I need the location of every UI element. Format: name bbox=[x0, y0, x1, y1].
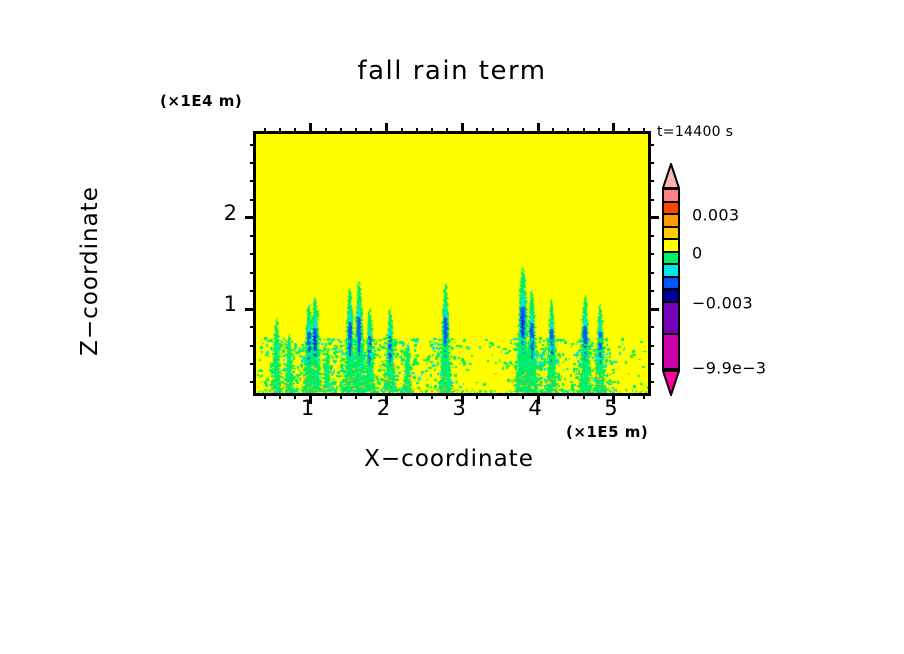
y-tick bbox=[648, 180, 654, 182]
y-tick bbox=[648, 162, 654, 164]
x-tick bbox=[492, 393, 494, 399]
x-tick bbox=[507, 128, 509, 134]
x-tick bbox=[537, 123, 540, 134]
y-tick bbox=[648, 199, 654, 201]
colorbar-bands bbox=[662, 188, 680, 370]
colorbar-bottom-arrow-outline bbox=[662, 370, 680, 396]
colorbar-band bbox=[664, 335, 678, 368]
y-tick bbox=[648, 216, 659, 219]
x-tick bbox=[522, 128, 524, 134]
y-tick bbox=[648, 290, 654, 292]
y-tick bbox=[250, 345, 256, 347]
x-tick bbox=[552, 128, 554, 134]
y-tick bbox=[250, 290, 256, 292]
colorbar-tick-label: −9.9e−3 bbox=[692, 359, 766, 378]
x-tick bbox=[628, 128, 630, 134]
y-tick bbox=[245, 216, 256, 219]
colorbar-band bbox=[664, 228, 678, 241]
x-tick bbox=[643, 393, 645, 399]
x-tick bbox=[355, 393, 357, 399]
x-tick bbox=[385, 123, 388, 134]
y-axis-unit-label: (×1E4 m) bbox=[160, 92, 242, 110]
x-tick bbox=[583, 128, 585, 134]
colorbar-band bbox=[664, 215, 678, 228]
colorbar-band bbox=[664, 303, 678, 336]
y-tick bbox=[250, 162, 256, 164]
colorbar-band bbox=[664, 203, 678, 216]
y-tick bbox=[250, 199, 256, 201]
x-tick-label: 4 bbox=[515, 396, 555, 420]
y-tick bbox=[245, 308, 256, 311]
y-tick bbox=[250, 272, 256, 274]
x-tick bbox=[309, 123, 312, 134]
x-tick bbox=[446, 128, 448, 134]
y-tick bbox=[250, 381, 256, 383]
x-tick bbox=[461, 123, 464, 134]
x-tick bbox=[431, 128, 433, 134]
colorbar-band bbox=[664, 290, 678, 303]
x-tick bbox=[370, 128, 372, 134]
y-tick bbox=[250, 253, 256, 255]
y-tick bbox=[250, 235, 256, 237]
y-tick bbox=[250, 180, 256, 182]
x-tick bbox=[340, 128, 342, 134]
colorbar-band bbox=[664, 253, 678, 266]
colorbar-tick-label: 0.003 bbox=[692, 206, 739, 225]
x-tick-label: 3 bbox=[439, 396, 479, 420]
plot-area bbox=[253, 131, 651, 396]
x-tick bbox=[507, 393, 509, 399]
y-tick bbox=[648, 144, 654, 146]
colorbar-tick-label: −0.003 bbox=[692, 293, 753, 312]
x-tick bbox=[431, 393, 433, 399]
x-axis-title: X−coordinate bbox=[253, 446, 645, 472]
x-axis-unit-label: (×1E5 m) bbox=[566, 423, 648, 441]
colorbar-band bbox=[664, 190, 678, 203]
x-tick-label: 5 bbox=[591, 396, 631, 420]
x-tick bbox=[567, 128, 569, 134]
x-tick bbox=[294, 128, 296, 134]
heatmap-canvas bbox=[256, 134, 648, 393]
y-tick bbox=[648, 363, 654, 365]
chart-title: fall rain term bbox=[0, 56, 904, 86]
y-axis-title: Z−coordinate bbox=[77, 121, 103, 421]
x-tick bbox=[643, 128, 645, 134]
x-tick bbox=[340, 393, 342, 399]
x-tick bbox=[264, 393, 266, 399]
y-tick bbox=[648, 345, 654, 347]
colorbar-tick-label: 0 bbox=[692, 243, 702, 262]
y-tick bbox=[250, 144, 256, 146]
y-tick bbox=[250, 363, 256, 365]
x-tick bbox=[325, 128, 327, 134]
y-tick bbox=[648, 308, 659, 311]
x-tick bbox=[476, 128, 478, 134]
x-tick bbox=[492, 128, 494, 134]
x-tick bbox=[567, 393, 569, 399]
x-tick bbox=[598, 128, 600, 134]
timestamp-annotation: t=14400 s bbox=[657, 124, 733, 140]
y-tick bbox=[648, 253, 654, 255]
colorbar-band bbox=[664, 240, 678, 253]
y-tick bbox=[648, 235, 654, 237]
x-tick-label: 1 bbox=[288, 396, 328, 420]
y-tick bbox=[648, 326, 654, 328]
y-tick bbox=[250, 326, 256, 328]
colorbar-top-arrow-outline bbox=[662, 163, 680, 189]
colorbar: 0.0030−0.003−9.9e−3 bbox=[662, 163, 680, 395]
x-tick bbox=[583, 393, 585, 399]
colorbar-band bbox=[664, 265, 678, 278]
y-tick bbox=[648, 381, 654, 383]
x-tick bbox=[416, 128, 418, 134]
x-tick bbox=[612, 123, 615, 134]
y-tick-label: 2 bbox=[203, 201, 237, 225]
x-tick bbox=[401, 128, 403, 134]
y-tick bbox=[648, 272, 654, 274]
y-tick-label: 1 bbox=[203, 292, 237, 316]
colorbar-band bbox=[664, 278, 678, 291]
x-tick bbox=[279, 393, 281, 399]
x-tick bbox=[355, 128, 357, 134]
x-tick bbox=[416, 393, 418, 399]
x-tick bbox=[279, 128, 281, 134]
x-tick bbox=[264, 128, 266, 134]
x-tick-label: 2 bbox=[363, 396, 403, 420]
